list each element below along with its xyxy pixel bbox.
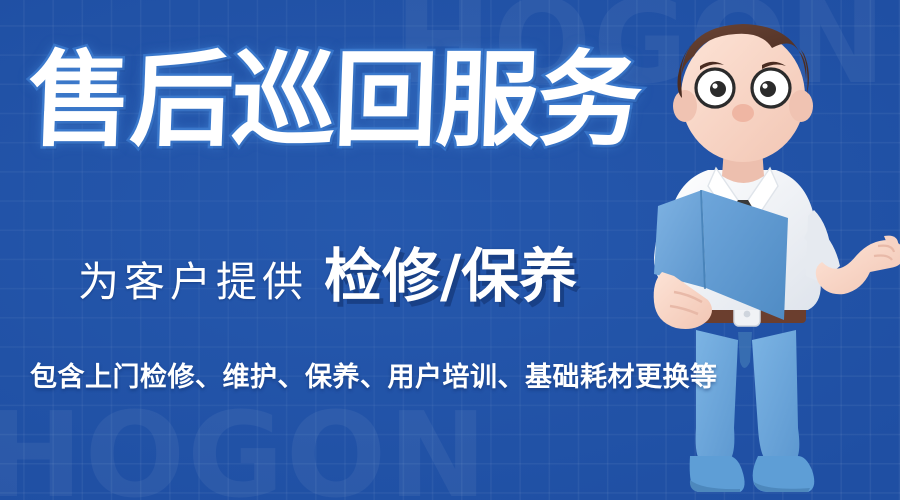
subheadline-lead: 为客户提供 (78, 262, 308, 303)
subheadline: 为客户提供 检修/保养 (78, 247, 577, 305)
description-text: 包含上门检修、维护、保养、用户培训、基础耗材更换等 (30, 363, 718, 393)
service-engineer-illustration (612, 10, 900, 500)
subheadline-strong: 检修/保养 (324, 247, 577, 305)
character-head (673, 24, 813, 162)
watermark-bottom: HOGON (0, 396, 489, 500)
character-legs (690, 330, 815, 492)
page-title: 售后巡回服务 (26, 48, 642, 152)
service-banner: HOGON HOGON (0, 0, 900, 500)
